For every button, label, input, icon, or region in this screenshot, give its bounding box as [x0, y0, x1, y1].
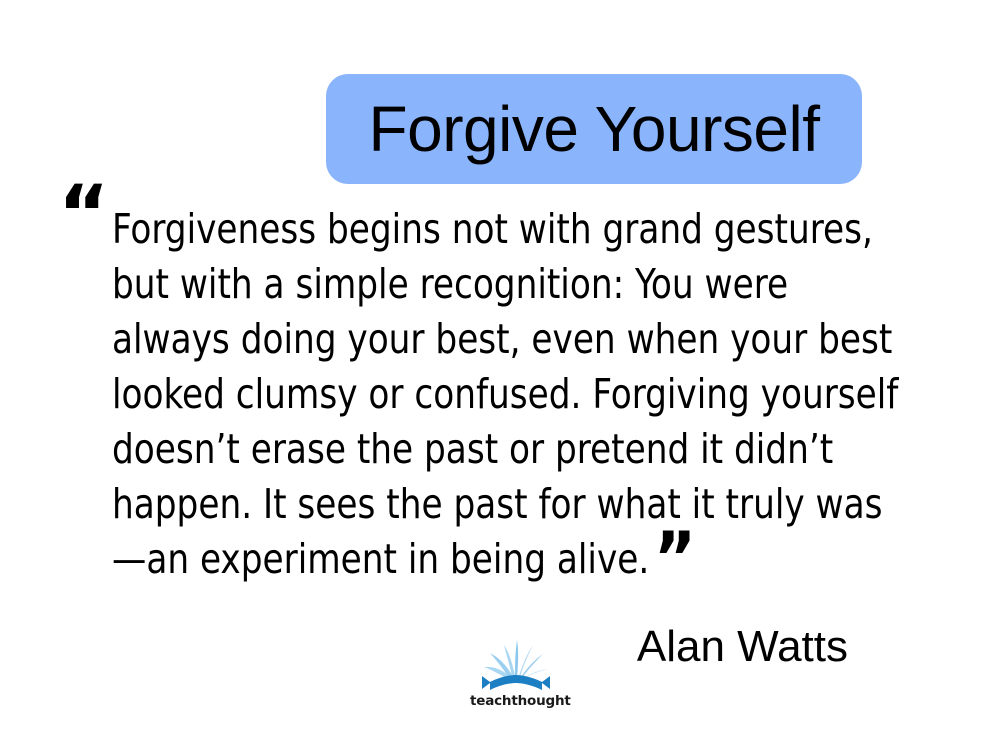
quote-author: Alan Watts [637, 625, 848, 669]
quote-text: Forgiveness begins not with grand gestur… [112, 202, 856, 587]
quote-line: doesn’t erase the past or pretend it did… [112, 422, 856, 477]
brand-logo: teachthought [470, 636, 562, 716]
quote-line: but with a simple recognition: You were [112, 257, 856, 312]
quote-line: looked clumsy or confused. Forgiving you… [112, 367, 856, 422]
title-badge: Forgive Yourself [326, 74, 862, 184]
quote-line: always doing your best, even when your b… [112, 312, 856, 367]
brand-wordmark: teachthought [470, 693, 562, 709]
quote-line: happen. It sees the past for what it tru… [112, 477, 856, 532]
quote-slide: Forgive Yourself “ Forgiveness begins no… [0, 0, 1000, 750]
quote-line-last: —an experiment in being alive.” [112, 532, 856, 587]
page-title: Forgive Yourself [369, 97, 820, 161]
opening-quotation-mark-icon: “ [58, 176, 109, 254]
quote-line: Forgiveness begins not with grand gestur… [112, 202, 856, 257]
teachthought-fanned-pages-icon [470, 636, 562, 692]
quote-line-text: —an experiment in being alive. [112, 535, 649, 583]
